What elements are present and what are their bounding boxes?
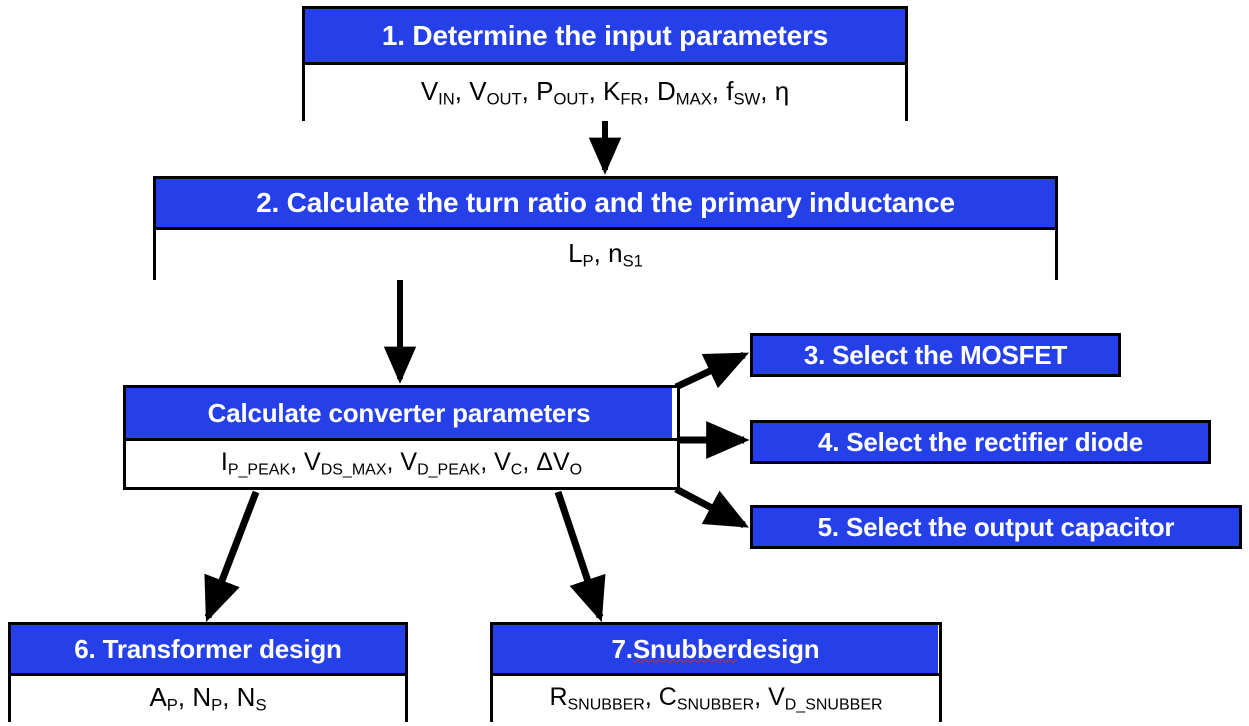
node-step7-header-suffix: design bbox=[737, 634, 820, 665]
node-step7-header: 7. Snubber design bbox=[493, 625, 938, 673]
node-step4[interactable]: 4. Select the rectifier diode bbox=[750, 420, 1211, 464]
node-step5-header: 5. Select the output capacitor bbox=[753, 508, 1239, 546]
node-converter-body: IP_PEAK, VDS_MAX, VD_PEAK, VC, ΔVO bbox=[126, 438, 677, 487]
connector-converter-to-step6 bbox=[208, 492, 256, 617]
node-step6-header: 6. Transformer design bbox=[11, 625, 405, 673]
node-step3-header: 3. Select the MOSFET bbox=[753, 336, 1118, 374]
node-step2[interactable]: 2. Calculate the turn ratio and the prim… bbox=[153, 176, 1058, 280]
node-step5[interactable]: 5. Select the output capacitor bbox=[750, 505, 1242, 549]
node-step4-header: 4. Select the rectifier diode bbox=[753, 423, 1208, 461]
node-calculate-converter-parameters[interactable]: Calculate converter parameters IP_PEAK, … bbox=[123, 385, 680, 490]
formula-list: AP, NP, NS bbox=[149, 682, 266, 716]
formula-list: LP, nS1 bbox=[568, 238, 643, 272]
formula-list: RSNUBBER, CSNUBBER, VD_SNUBBER bbox=[549, 683, 882, 714]
node-step3[interactable]: 3. Select the MOSFET bbox=[750, 333, 1121, 377]
node-step2-header: 2. Calculate the turn ratio and the prim… bbox=[156, 179, 1055, 227]
node-step7-header-prefix: 7. bbox=[612, 634, 633, 665]
node-step7-body: RSNUBBER, CSNUBBER, VD_SNUBBER bbox=[493, 673, 939, 722]
node-converter-header: Calculate converter parameters bbox=[126, 388, 672, 438]
node-step7-header-misspelled-word: Snubber bbox=[633, 634, 737, 665]
node-step1[interactable]: 1. Determine the input parameters VIN, V… bbox=[302, 6, 908, 121]
connector-converter-to-step3 bbox=[676, 355, 744, 387]
formula-list: IP_PEAK, VDS_MAX, VD_PEAK, VC, ΔVO bbox=[221, 448, 582, 479]
connector-converter-to-step7 bbox=[558, 492, 600, 617]
node-step7[interactable]: 7. Snubber design RSNUBBER, CSNUBBER, VD… bbox=[490, 622, 942, 722]
node-step6[interactable]: 6. Transformer design AP, NP, NS bbox=[8, 622, 408, 722]
formula-list: VIN, VOUT, POUT, KFR, DMAX, fSW, η bbox=[421, 76, 789, 110]
node-step1-header: 1. Determine the input parameters bbox=[305, 9, 905, 62]
node-step1-body: VIN, VOUT, POUT, KFR, DMAX, fSW, η bbox=[305, 62, 905, 121]
node-step6-body: AP, NP, NS bbox=[11, 673, 405, 722]
flowchart-canvas: 1. Determine the input parameters VIN, V… bbox=[0, 0, 1249, 726]
node-step2-body: LP, nS1 bbox=[156, 227, 1055, 280]
connector-converter-to-step5 bbox=[676, 489, 744, 525]
